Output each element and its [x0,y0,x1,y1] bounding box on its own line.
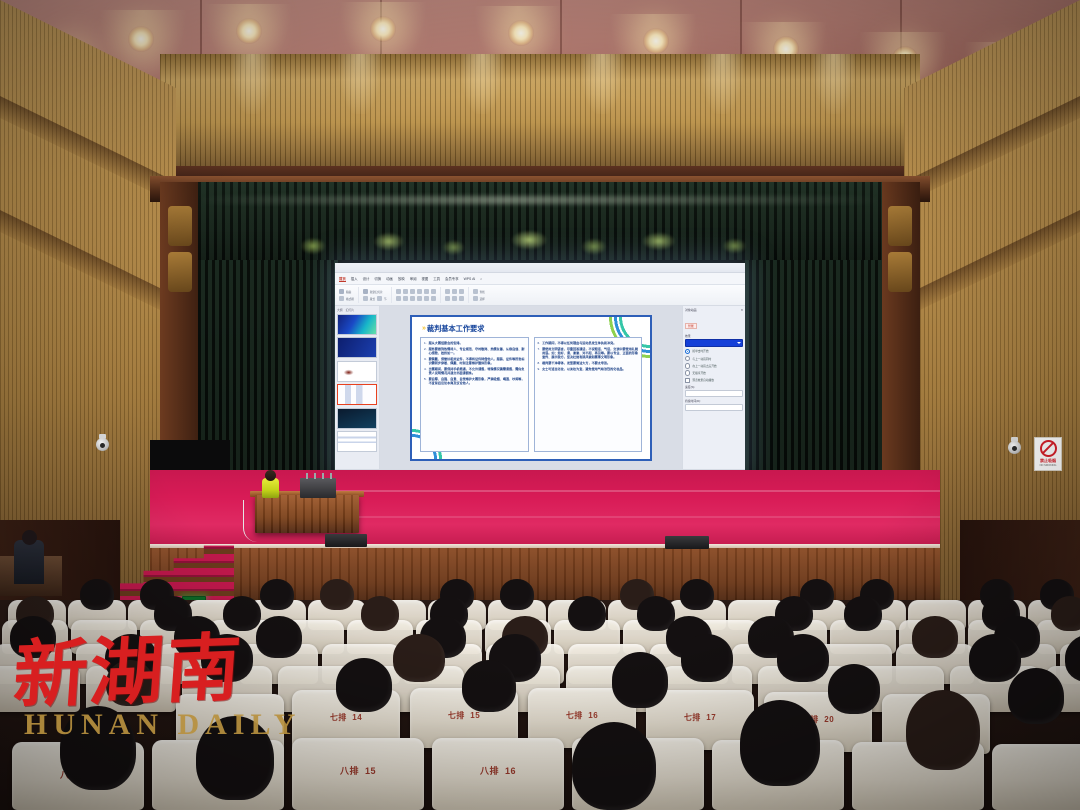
ribbon-group-slides[interactable]: 新建幻灯片 版式 节 [363,287,392,303]
bullet-item: 3.要佩戴、保管好相关证件，不得将证件转借他人。服装、证件等所发标识需同步穿着、… [424,357,525,365]
seat [992,744,1080,810]
bullet-text: 服从大赛组委会的安排。 [429,341,463,345]
duration-label: 持续时间(D): [685,399,743,403]
ribbon-label-7: 查找 [480,290,485,294]
stage-monitor-speaker [665,536,709,549]
select-icon[interactable] [473,296,478,301]
align-left-icon[interactable] [396,296,401,301]
font-color-icon[interactable] [424,289,429,294]
presenter-head [265,470,276,481]
chevron-right-icon: » [422,325,424,332]
ceiling-downlight [128,26,154,52]
audience-head [740,700,820,786]
audience-head [568,596,606,631]
bullet-number: 6. [538,341,541,345]
radio-no-order[interactable] [685,370,690,375]
audience-head [906,690,980,770]
shape-effect-icon[interactable] [459,296,464,301]
radio-after-previous[interactable] [685,363,690,368]
audience-head [969,634,1021,682]
thumbnail-slide-3[interactable] [337,361,377,382]
checkbox-autoplay-preview[interactable] [685,378,690,383]
stage-foliage-decoration [270,228,810,258]
bullet-number: 7. [538,347,541,359]
duration-input[interactable] [685,404,743,411]
quick-style-icon[interactable] [459,289,464,294]
stage-monitor-speaker [325,534,367,547]
ribbon-label-9: 选择 [480,297,485,301]
audience-head [912,616,957,658]
thumbnail-slide-2[interactable] [337,337,377,358]
audience-head [260,579,294,610]
effect-dropdown[interactable] [685,339,743,347]
audience-head [60,706,136,790]
bullet-text: 女士可适当化妆，以淡妆为宜，避免使用气味浓烈的化妆品。 [542,367,626,371]
wps-menu-bar[interactable]: 首页 插入 设计 切换 动画 放映 审阅 视图 工具 会员专享 WPS AI ⌕ [335,273,745,285]
security-camera-right [1008,437,1021,455]
menu-item-4[interactable]: 动画 [386,276,393,281]
arrange-icon[interactable] [452,289,457,294]
close-icon[interactable]: ✕ [741,308,743,312]
option-label: 无顺序开始 [692,371,705,375]
slide-canvas[interactable]: » 裁判基本工作要求 1.服从大赛组委会的安排。 2.服务要做到热情待人、专业规… [380,306,682,469]
audience-head [80,579,114,610]
align-center-icon[interactable] [403,296,408,301]
presenter-body [262,478,279,498]
audience-head [777,634,829,682]
option-label: 与上一动画同时 [692,357,711,361]
microphone-rack [300,478,336,498]
audience-head [201,634,253,682]
audience-head [256,616,301,658]
wps-title-bar [335,263,745,273]
effect-label: 效果 [685,334,743,338]
section-icon[interactable] [377,296,382,301]
slide-title-block[interactable]: » 裁判基本工作要求 [422,324,484,334]
wps-ribbon[interactable]: 粘贴 格式刷 新建幻灯片 版式 节 [335,285,745,306]
highlight-icon[interactable] [431,289,436,294]
option-label: 预览效果自动播放 [692,378,714,382]
bold-icon[interactable] [396,289,401,294]
speaker-podium [255,495,359,533]
option-label: 在上一动画之后开始 [692,364,716,368]
current-slide[interactable]: » 裁判基本工作要求 1.服从大赛组委会的安排。 2.服务要做到热情待人、专业规… [410,315,652,461]
thumbnail-slide-5[interactable] [337,408,377,429]
seat-label: 七排 16 [528,710,636,721]
slide-left-column[interactable]: 1.服从大赛组委会的安排。 2.服务要做到热情待人、专业规范、守时敬岗、热情友善… [420,337,529,452]
audience-head [320,579,354,610]
audience-head [106,660,154,706]
animation-pane-title: 对象动画 [685,308,697,312]
audience-head [1008,668,1064,724]
audience-head [500,579,534,610]
animation-pane-header: 对象动画 ✕ [685,308,743,312]
menu-item-3[interactable]: 切换 [374,276,381,281]
thumbnail-slide-6[interactable] [337,431,377,452]
bullet-text: 比赛期间，要保持手机畅通，不允许请假，特殊情况确需请假，需向负责人说明情况并递交… [429,367,525,375]
menu-item-0[interactable]: 首页 [339,276,346,282]
bullet-item: 2.服务要做到热情待人、专业规范、守时敬岗、热情友善、从容自信、耐心细致、始终如… [424,347,525,355]
audience-head [680,579,714,610]
security-camera-left [96,434,109,452]
bullet-item: 8.裁判要干净得体，发型要简洁大方，不要太夸张。 [538,361,639,365]
bullet-item: 1.服从大赛组委会的安排。 [424,341,525,345]
thumbnail-slide-4[interactable] [337,384,377,405]
option-row[interactable]: 预览效果自动播放 [685,378,743,383]
strikethrough-icon[interactable] [417,289,422,294]
speed-dropdown[interactable] [685,390,743,397]
chevron-down-icon [737,342,741,344]
projection-screen: 首页 插入 设计 切换 动画 放映 审阅 视图 工具 会员专享 WPS AI ⌕… [335,263,745,475]
bullet-number: 2. [424,347,427,355]
auditorium-photo: 禁止吸烟 NO SMOKING 首页 插入 设计 切换 动画 放映 审阅 视图 … [0,0,1080,810]
ribbon-label-2: 新建幻灯片 [370,290,383,294]
menu-item-7[interactable]: 视图 [421,276,428,281]
number-list-icon[interactable] [424,296,429,301]
speed-label: 速度(S): [685,385,743,389]
slide-right-column[interactable]: 6.工作期间，不得以任何理由与运动员发生争执和冲突。 7.要使用文明语言，尽量回… [534,337,643,452]
ribbon-label-1: 格式刷 [346,297,354,301]
menu-item-10[interactable]: WPS AI [464,277,476,281]
seat: 八排 15 [292,738,424,810]
tab-slides[interactable]: 幻灯片 [346,308,354,312]
bullet-item: 6.工作期间，不得以任何理由与运动员发生争执和冲突。 [538,341,639,345]
bullet-text: 服务要做到热情待人、专业规范、守时敬岗、热情友善、从容自信、耐心细致、始终如一。 [429,347,525,355]
bullet-text: 工作期间，不得以任何理由与运动员发生争执和冲突。 [542,341,616,345]
bullet-number: 9. [538,367,541,371]
slide-title: 裁判基本工作要求 [427,324,485,334]
ribbon-label-4: 节 [384,297,387,301]
animation-task-pane[interactable]: 对象动画 ✕ 智能 效果 按单击时开始 与上一动画同时 在上一动画之后开始 无顺… [682,306,745,469]
bullet-number: 1. [424,341,427,345]
smart-badge: 智能 [685,323,697,329]
bullet-number: 5. [424,377,427,385]
radio-with-previous[interactable] [685,356,690,361]
audience-head [223,596,261,631]
bullet-item: 4.比赛期间，要保持手机畅通，不允许请假，特殊情况确需请假，需向负责人说明情况并… [424,367,525,375]
ribbon-group-clipboard[interactable]: 粘贴 格式刷 [339,287,359,303]
menu-item-2[interactable]: 设计 [363,276,370,281]
audience-head [1051,596,1080,631]
italic-icon[interactable] [403,289,408,294]
option-row[interactable]: 无顺序开始 [685,370,743,375]
underline-icon[interactable] [410,289,415,294]
audience-head [393,634,445,682]
bullet-list-icon[interactable] [417,296,422,301]
no-smoking-sign: 禁止吸烟 NO SMOKING [1034,437,1062,471]
no-smoking-subtitle: NO SMOKING [1040,464,1057,467]
no-smoking-icon [1040,440,1057,457]
bullet-number: 3. [424,357,427,365]
menu-item-9[interactable]: 会员专享 [445,276,459,281]
audience-head [681,634,733,682]
menu-item-5[interactable]: 放映 [398,276,405,281]
ribbon-group-drawing[interactable] [445,287,469,303]
find-icon[interactable] [473,289,478,294]
seat-label: 八排 15 [292,764,424,777]
audience-head [196,716,274,800]
back-wall-panelling [160,54,920,172]
seat-label: 七排 17 [646,712,754,723]
seat-label: 七排 15 [410,710,518,721]
valance-highlight [198,196,882,204]
bullet-text: 要佩戴、保管好相关证件，不得将证件转借他人。服装、证件等所发标识需同步穿着、佩戴… [429,357,525,365]
seat-label: 八排 16 [432,764,564,777]
menu-item-8[interactable]: 工具 [433,276,440,281]
slide-thumbnail-panel[interactable]: 大纲 幻灯片 [335,306,380,469]
layout-icon[interactable] [363,296,368,301]
option-label: 按单击时开始 [692,349,708,353]
audience-head [572,722,656,810]
proscenium-ornament [168,206,192,246]
seat-label: 七排 14 [292,712,400,723]
seat [0,666,80,712]
audience-head [844,596,882,631]
bullet-item: 9.女士可适当化妆，以淡妆为宜，避免使用气味浓烈的化妆品。 [538,367,639,371]
option-row[interactable]: 在上一动画之后开始 [685,363,743,368]
audience-head [612,652,668,708]
bullet-item: 5.要自尊、自强、自爱、自觉维护大赛形象，严禁吸烟、喝酒、吵闹等，不宜背后议论本… [424,377,525,385]
option-row[interactable]: 按单击时开始 [685,349,743,354]
bullet-item: 7.要使用文明语言，尽量回答通话，不说粗话、气话，交谈中要使用礼貌用语。如：您好… [538,347,639,359]
ribbon-group-font[interactable] [396,287,441,303]
shape-fill-icon[interactable] [445,296,450,301]
audience-head [462,660,516,712]
seated-staff-head [22,530,37,545]
paste-icon[interactable] [339,289,344,294]
audience-head [828,664,880,714]
menu-item-6[interactable]: 审阅 [410,276,417,281]
radio-on-click[interactable] [685,349,690,354]
shapes-icon[interactable] [445,289,450,294]
option-row[interactable]: 与上一动画同时 [685,356,743,361]
seat: 八排 16 [432,738,564,810]
bullet-text: 要自尊、自强、自爱、自觉维护大赛形象，严禁吸烟、喝酒、吵闹等，不宜背后议论本商及… [429,377,525,385]
format-painter-icon[interactable] [339,296,344,301]
shape-outline-icon[interactable] [452,296,457,301]
thumbnail-panel-tabs[interactable]: 大纲 幻灯片 [337,308,377,312]
align-right-icon[interactable] [410,296,415,301]
bullet-text: 裁判要干净得体，发型要简洁大方，不要太夸张。 [542,361,610,365]
new-slide-icon[interactable] [363,289,368,294]
bullet-number: 4. [424,367,427,375]
seated-staff-body [14,540,44,584]
line-spacing-icon[interactable] [431,296,436,301]
audience-head [336,658,392,712]
audience-head [10,616,55,658]
search-icon[interactable]: ⌕ [480,277,482,281]
tab-outline[interactable]: 大纲 [337,308,343,312]
bullet-number: 8. [538,361,541,365]
ribbon-group-editing[interactable]: 查找 选择 [473,287,489,303]
ribbon-label-0: 粘贴 [346,290,351,294]
thumbnail-slide-1[interactable] [337,314,377,335]
bullet-text: 要使用文明语言，尽量回答通话，不说粗话、气话，交谈中要使用礼貌用语。如：您好、请… [542,347,638,359]
ribbon-label-3: 版式 [370,297,375,301]
menu-item-1[interactable]: 插入 [351,276,358,281]
audience-head [361,596,399,631]
